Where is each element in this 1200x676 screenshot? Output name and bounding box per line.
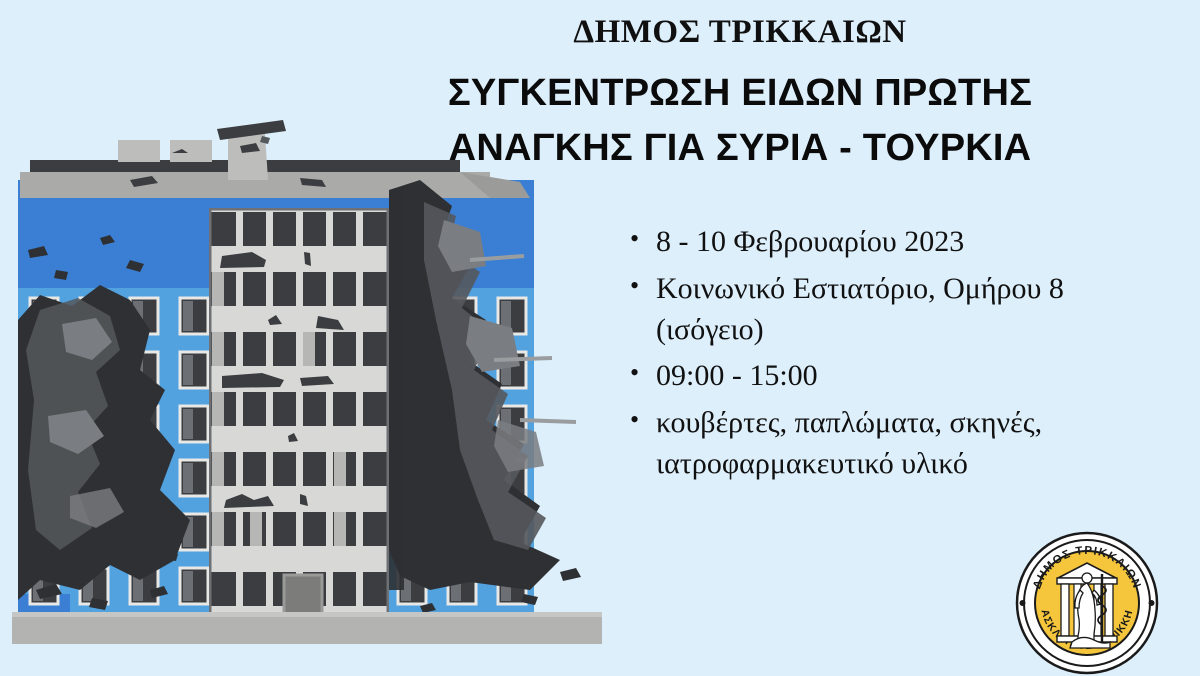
list-item: 09:00 - 15:00 (628, 356, 1098, 397)
poster-canvas: ΔΗΜΟΣ ΤΡΙΚΚΑΙΩΝ ΣΥΓΚΕΝΤΡΩΣΗ ΕΙΔΩΝ ΠΡΩΤΗΣ… (0, 0, 1200, 676)
main-title-line-1: ΣΥΓΚΕΝΤΡΩΣΗ ΕΙΔΩΝ ΠΡΩΤΗΣ (390, 66, 1090, 121)
list-item: κουβέρτες, παπλώματα, σκηνές, ιατροφαρμα… (628, 403, 1098, 485)
municipality-seal-logo: ΔΗΜΟΣ ΤΡΙΚΚΑΙΩΝ ΑΣΚΛΗΠΙΟΣ - ΤΡΙΚΚΗ (1014, 530, 1160, 676)
organization-title: ΔΗΜΟΣ ΤΡΙΚΚΑΙΩΝ (390, 14, 1090, 50)
detail-text: Κοινωνικό Εστιατόριο, Ομήρου 8 (ισόγειο) (656, 272, 1064, 346)
collapsed-building-illustration (0, 120, 620, 660)
seal-svg: ΔΗΜΟΣ ΤΡΙΚΚΑΙΩΝ ΑΣΚΛΗΠΙΟΣ - ΤΡΙΚΚΗ (1014, 530, 1160, 676)
seal-dot-left (1020, 600, 1026, 606)
headline-block: ΔΗΜΟΣ ΤΡΙΚΚΑΙΩΝ ΣΥΓΚΕΝΤΡΩΣΗ ΕΙΔΩΝ ΠΡΩΤΗΣ… (390, 14, 1090, 176)
building-svg (0, 120, 620, 660)
temple-emblem (1057, 563, 1117, 648)
main-title-line-2: ΑΝΑΓΚΗΣ ΓΙΑ ΣΥΡΙΑ - ΤΟΥΡΚΙΑ (390, 121, 1090, 176)
tower-right-seam (389, 186, 404, 590)
detail-text: 8 - 10 Φεβρουαρίου 2023 (656, 225, 964, 258)
seal-dot-right (1149, 600, 1155, 606)
list-item: Κοινωνικό Εστιατόριο, Ομήρου 8 (ισόγειο) (628, 269, 1098, 351)
detail-text: κουβέρτες, παπλώματα, σκηνές, ιατροφαρμα… (656, 406, 1042, 480)
detail-text: 09:00 - 15:00 (656, 359, 818, 392)
roof-vent-box-1 (118, 140, 160, 162)
roof-vent-box-2 (170, 140, 212, 162)
entrance-door (284, 575, 322, 615)
list-item: 8 - 10 Φεβρουαρίου 2023 (628, 222, 1098, 263)
details-list: 8 - 10 Φεβρουαρίου 2023 Κοινωνικό Εστιατ… (628, 222, 1098, 491)
ground-slab-top (12, 612, 602, 617)
